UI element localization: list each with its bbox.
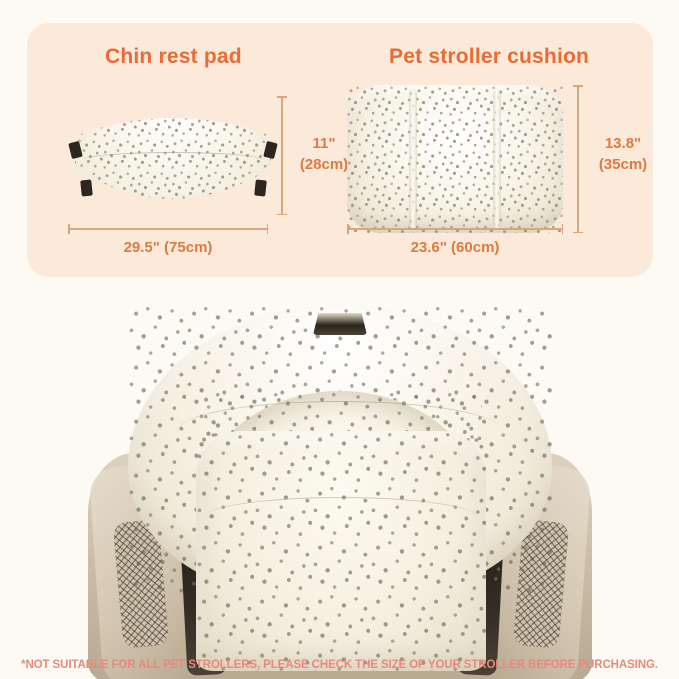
height-imperial-pet-stroller-cushion: 13.8" [587,133,659,154]
strap-tab-lower-right [254,179,267,196]
strap-tab-upper-right [263,141,278,159]
floral-print-texture [347,85,563,233]
width-dimension-label-chin-rest-pad: 29.5" (75cm) [68,237,268,258]
infographic-root: Chin rest pad 11" (28cm) 29.5" (75cm) [0,0,679,679]
chin-rest-pad-illustration [69,98,277,218]
width-dimension-line-pet-stroller-cushion [347,228,563,230]
height-dimension-label-pet-stroller-cushion: 13.8" (35cm) [587,133,659,176]
quilt-seam-left [409,89,417,229]
strap-tab-lower-left [80,179,93,196]
width-dimension-label-pet-stroller-cushion: 23.6" (60cm) [343,237,567,258]
product-title-pet-stroller-cushion: Pet stroller cushion [389,45,589,69]
inner-cushion [196,431,486,671]
floral-print-texture [196,431,486,671]
handle-notch [313,313,367,335]
width-dimension-line-chin-rest-pad [68,228,268,230]
pet-stroller-cushion-body [347,85,563,233]
product-photo [0,283,679,679]
height-metric-pet-stroller-cushion: (35cm) [587,154,659,175]
quilt-seam-right [493,89,501,229]
disclaimer-text: *NOT SUITABLE FOR ALL PET STROLLERS, PLE… [0,659,679,671]
spec-card: Chin rest pad 11" (28cm) 29.5" (75cm) [27,23,653,277]
product-title-chin-rest-pad: Chin rest pad [105,45,242,69]
pet-stroller-cushion-illustration [347,85,563,233]
height-dimension-line-pet-stroller-cushion [577,85,579,233]
product-panel-chin-rest-pad: Chin rest pad 11" (28cm) 29.5" (75cm) [47,23,327,277]
product-panel-pet-stroller-cushion: Pet stroller cushion 13.8" (35cm) 23.6" … [337,23,637,277]
height-dimension-line-chin-rest-pad [281,96,283,215]
